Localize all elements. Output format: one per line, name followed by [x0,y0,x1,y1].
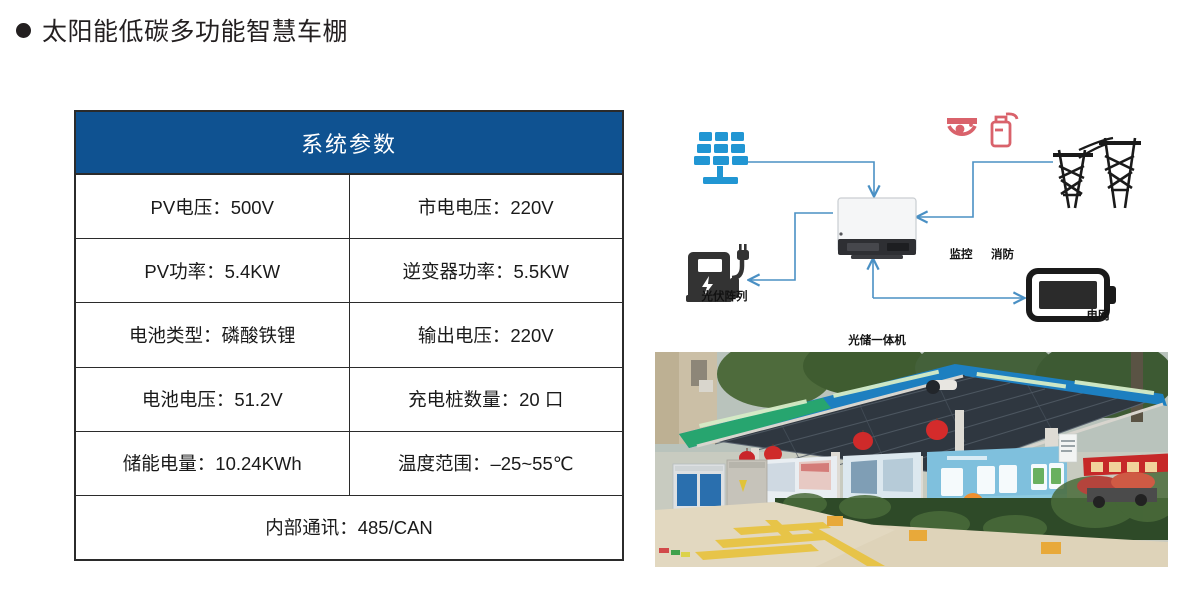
table-cell: 逆变器功率：5.5KW [350,239,623,302]
table-cell: 市电电压：220V [350,175,623,238]
fire-extinguisher-icon [992,114,1017,146]
table-body: PV电压：500V 市电电压：220V PV功率：5.4KW 逆变器功率：5.5… [76,175,622,559]
table-row: 电池类型：磷酸铁锂 输出电压：220V [76,303,622,367]
flow-inverter-to-charger [750,213,833,280]
table-row: PV电压：500V 市电电压：220V [76,175,622,239]
node-label-monitoring: 监控 [936,246,986,262]
slide-title-row: 太阳能低碳多功能智慧车棚 [16,12,348,48]
solar-panel-icon [694,132,748,184]
slide-root: 太阳能低碳多功能智慧车棚 系统参数 PV电压：500V 市电电压：220V PV… [0,0,1200,605]
flow-grid-to-inverter [918,162,1053,217]
photo-render [655,352,1168,567]
node-label-fire: 消防 [980,246,1025,262]
table-cell: 充电桩数量：20 口 [350,368,623,431]
table-cell: 输出电压：220V [350,303,623,366]
cctv-indicator-icon [969,123,973,127]
node-label-inverter: 光储一体机 [822,332,932,348]
system-parameters-table: 系统参数 PV电压：500V 市电电压：220V PV功率：5.4KW 逆变器功… [74,110,624,561]
cctv-lens-icon [956,125,965,134]
table-row: 内部通讯：485/CAN [76,496,622,559]
table-row: 电池电压：51.2V 充电桩数量：20 口 [76,368,622,432]
page-title: 太阳能低碳多功能智慧车棚 [42,12,348,48]
node-label-grid: 电网 [1053,307,1143,323]
flow-pv-to-inverter [747,162,874,195]
power-pylon-icon [1053,138,1141,208]
table-cell: 电池电压：51.2V [76,368,350,431]
table-row: PV功率：5.4KW 逆变器功率：5.5KW [76,239,622,303]
solar-carport-photo [655,352,1168,567]
inverter-cabinet-icon [838,198,916,259]
bullet-icon [16,23,31,38]
table-cell: 电池类型：磷酸铁锂 [76,303,350,366]
table-header: 系统参数 [76,112,622,175]
table-cell: 内部通讯：485/CAN [76,496,622,559]
node-label-pv-array: 光伏阵列 [677,288,772,304]
table-cell: 温度范围：–25~55℃ [350,432,623,495]
table-cell: PV电压：500V [76,175,350,238]
table-cell: 储能电量：10.24KWh [76,432,350,495]
table-cell: PV功率：5.4KW [76,239,350,302]
table-row: 储能电量：10.24KWh 温度范围：–25~55℃ [76,432,622,496]
system-flow-diagram: 光伏阵列 监控 消防 电网 光储一体机 充电桩 储能电池 [655,100,1185,340]
